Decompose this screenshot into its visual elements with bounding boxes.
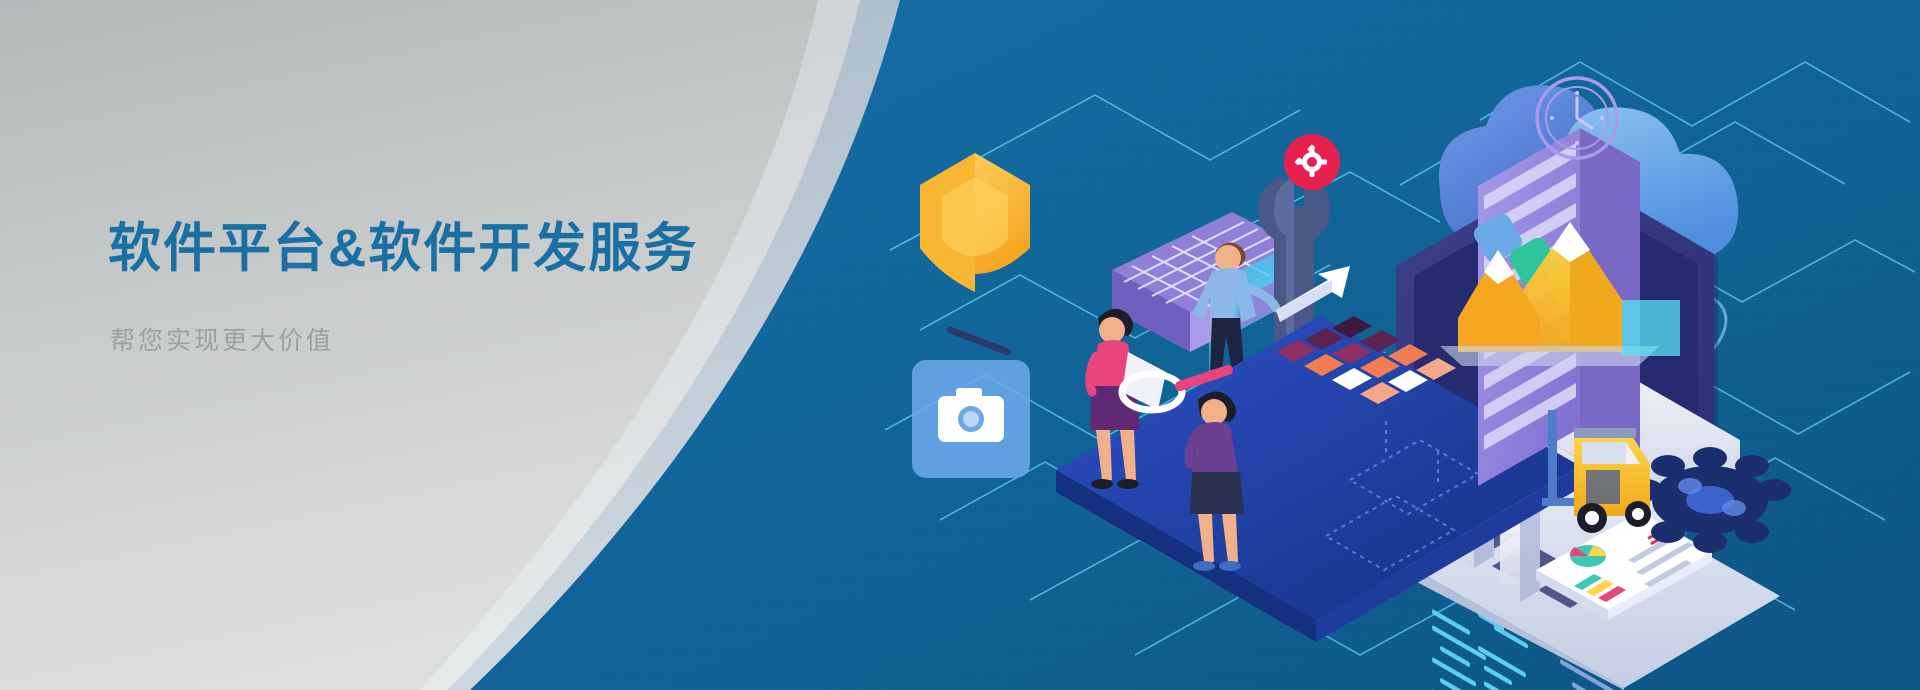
hero-banner: 软件平台&软件开发服务 帮您实现更大价值 xyxy=(0,0,1920,690)
page-title: 软件平台&软件开发服务 xyxy=(108,218,868,281)
hero-copy: 软件平台&软件开发服务 帮您实现更大价值 xyxy=(108,218,868,357)
page-subtitle: 帮您实现更大价值 xyxy=(110,321,868,357)
